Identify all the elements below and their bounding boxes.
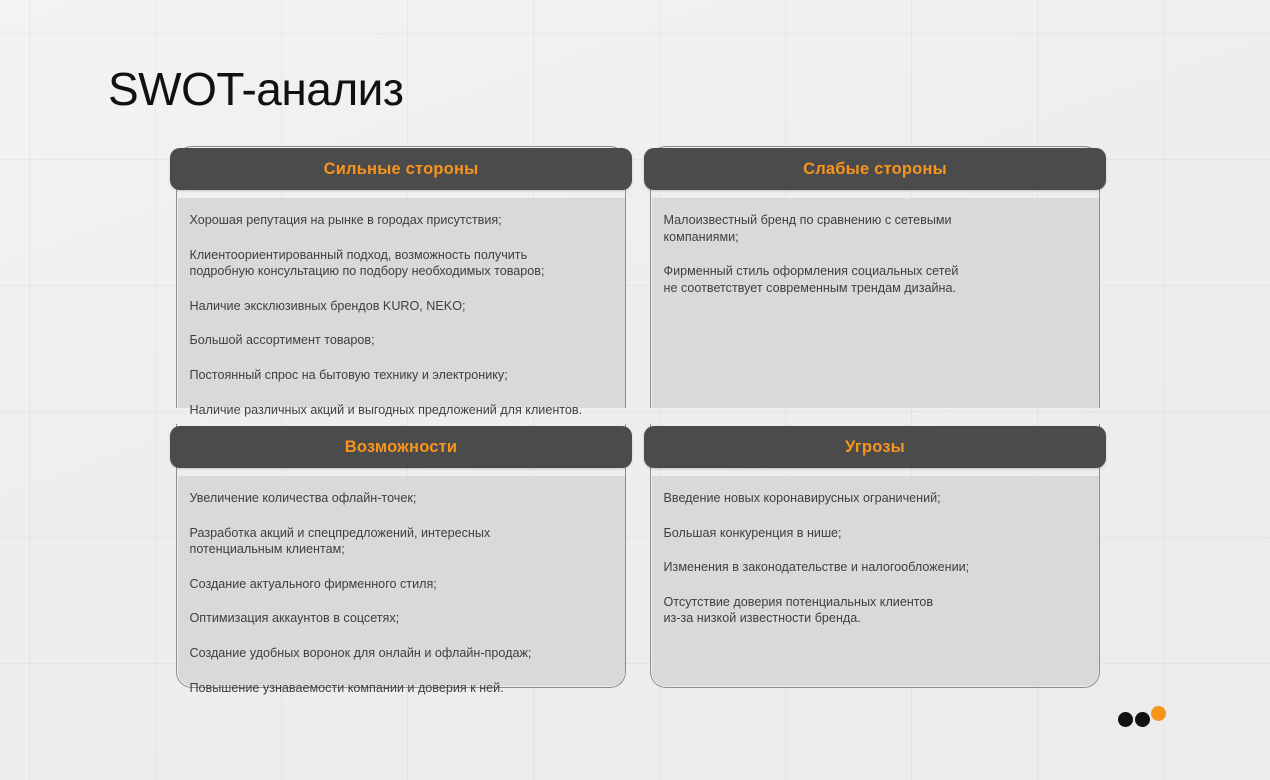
quadrant-body-weaknesses: Малоизвестный бренд по сравнению с сетев… — [652, 198, 1099, 408]
quadrant-body-strengths: Хорошая репутация на рынке в городах при… — [178, 198, 625, 408]
list-item: Изменения в законодательстве и налогообл… — [664, 559, 1085, 576]
quadrant-header-opportunities: Возможности — [170, 426, 632, 468]
quadrant-title: Слабые стороны — [803, 160, 947, 179]
quadrant-header-strengths: Сильные стороны — [170, 148, 632, 190]
list-item: Оптимизация аккаунтов в соцсетях; — [190, 610, 611, 627]
quadrant-weaknesses: Слабые стороны Малоизвестный бренд по ср… — [650, 146, 1100, 408]
list-item: Наличие эксклюзивных брендов KURO, NEKO; — [190, 298, 611, 315]
swot-matrix: Сильные стороны Хорошая репутация на рын… — [176, 146, 1101, 688]
quadrant-title: Сильные стороны — [324, 160, 479, 179]
list-item: Постоянный спрос на бытовую технику и эл… — [190, 367, 611, 384]
list-item: Малоизвестный бренд по сравнению с сетев… — [664, 212, 1085, 245]
list-item: Создание актуального фирменного стиля; — [190, 576, 611, 593]
quadrant-strengths: Сильные стороны Хорошая репутация на рын… — [176, 146, 626, 408]
list-item: Разработка акций и спецпредложений, инте… — [190, 525, 611, 558]
quadrant-title: Возможности — [345, 438, 458, 457]
pagination-dot[interactable] — [1135, 712, 1150, 727]
list-item: Большой ассортимент товаров; — [190, 332, 611, 349]
list-item: Отсутствие доверия потенциальных клиенто… — [664, 594, 1085, 627]
list-item: Клиентоориентированный подход, возможнос… — [190, 247, 611, 280]
quadrant-body-threats: Введение новых коронавирусных ограничени… — [652, 476, 1099, 686]
list-item: Наличие различных акций и выгодных предл… — [190, 402, 611, 419]
list-item: Хорошая репутация на рынке в городах при… — [190, 212, 611, 229]
list-item: Большая конкуренция в нише; — [664, 525, 1085, 542]
quadrant-title: Угрозы — [845, 438, 905, 457]
pagination-dot[interactable] — [1118, 712, 1133, 727]
list-item: Повышение узнаваемости компании и довери… — [190, 680, 611, 697]
quadrant-body-opportunities: Увеличение количества офлайн-точек; Разр… — [178, 476, 625, 686]
quadrant-threats: Угрозы Введение новых коронавирусных огр… — [650, 424, 1100, 688]
list-item: Увеличение количества офлайн-точек; — [190, 490, 611, 507]
pagination-dot-active[interactable] — [1151, 706, 1166, 721]
quadrant-header-weaknesses: Слабые стороны — [644, 148, 1106, 190]
pagination-dots — [1118, 705, 1178, 729]
quadrant-header-threats: Угрозы — [644, 426, 1106, 468]
list-item: Введение новых коронавирусных ограничени… — [664, 490, 1085, 507]
list-item: Фирменный стиль оформления социальных се… — [664, 263, 1085, 296]
list-item: Создание удобных воронок для онлайн и оф… — [190, 645, 611, 662]
page-title: SWOT-анализ — [108, 62, 403, 116]
quadrant-opportunities: Возможности Увеличение количества офлайн… — [176, 424, 626, 688]
